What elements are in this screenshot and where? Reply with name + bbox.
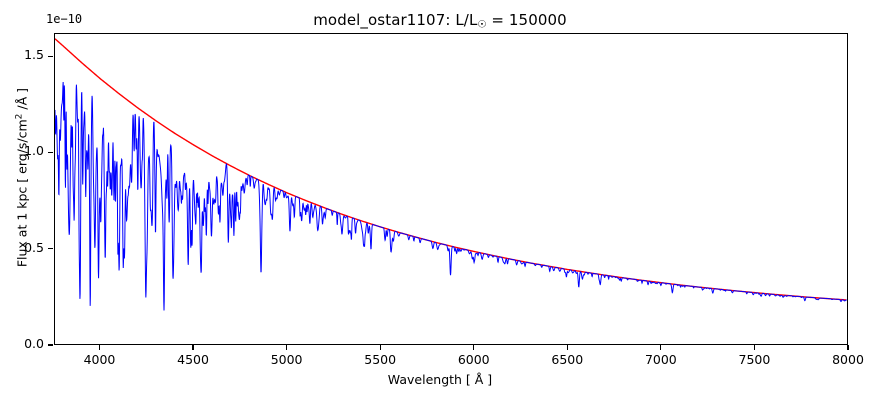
y-axis-label-pre: Flux at 1 kpc [ erg/s/cm	[15, 119, 30, 267]
plot-area	[54, 33, 848, 345]
x-tick-4000	[99, 345, 100, 350]
x-tick-label-7000: 7000	[616, 352, 706, 367]
x-tick-label-4500: 4500	[148, 352, 238, 367]
x-tick-4500	[192, 345, 193, 350]
x-tick-label-6000: 6000	[429, 352, 519, 367]
x-tick-6000	[473, 345, 474, 350]
solar-symbol: ☉	[477, 20, 486, 31]
x-tick-5500	[380, 345, 381, 350]
y-axis-label: Flux at 1 kpc [ erg/s/cm2 /Å ]	[14, 28, 29, 328]
x-tick-label-5000: 5000	[242, 352, 332, 367]
x-tick-label-5500: 5500	[335, 352, 425, 367]
y-tick-0.5	[48, 248, 53, 249]
figure-canvas: model_ostar1107: L/L☉ = 150000 1e−10 400…	[0, 0, 880, 400]
y-tick-1	[48, 152, 53, 153]
x-tick-7000	[660, 345, 661, 350]
x-tick-7500	[754, 345, 755, 350]
y-tick-1.5	[48, 56, 53, 57]
x-tick-5000	[286, 345, 287, 350]
x-tick-label-7500: 7500	[709, 352, 799, 367]
x-tick-label-4000: 4000	[54, 352, 144, 367]
chart-title: model_ostar1107: L/L☉ = 150000	[0, 11, 880, 31]
spectrum-line	[55, 82, 847, 310]
y-axis-label-post: /Å ]	[15, 88, 30, 114]
x-tick-8000	[847, 345, 848, 350]
x-tick-label-6500: 6500	[522, 352, 612, 367]
x-tick-label-8000: 8000	[803, 352, 880, 367]
x-axis-label: Wavelength [ Å ]	[0, 372, 880, 387]
chart-title-prefix: model_ostar1107: L/L	[313, 11, 477, 29]
chart-title-suffix: = 150000	[487, 11, 567, 29]
y-tick-label-0: 0.0	[0, 336, 44, 351]
y-tick-0	[48, 344, 53, 345]
x-tick-6500	[567, 345, 568, 350]
spectrum-plot	[55, 34, 847, 344]
y-axis-offset-label: 1e−10	[46, 12, 82, 26]
y-axis-label-exponent: 2	[14, 114, 24, 120]
